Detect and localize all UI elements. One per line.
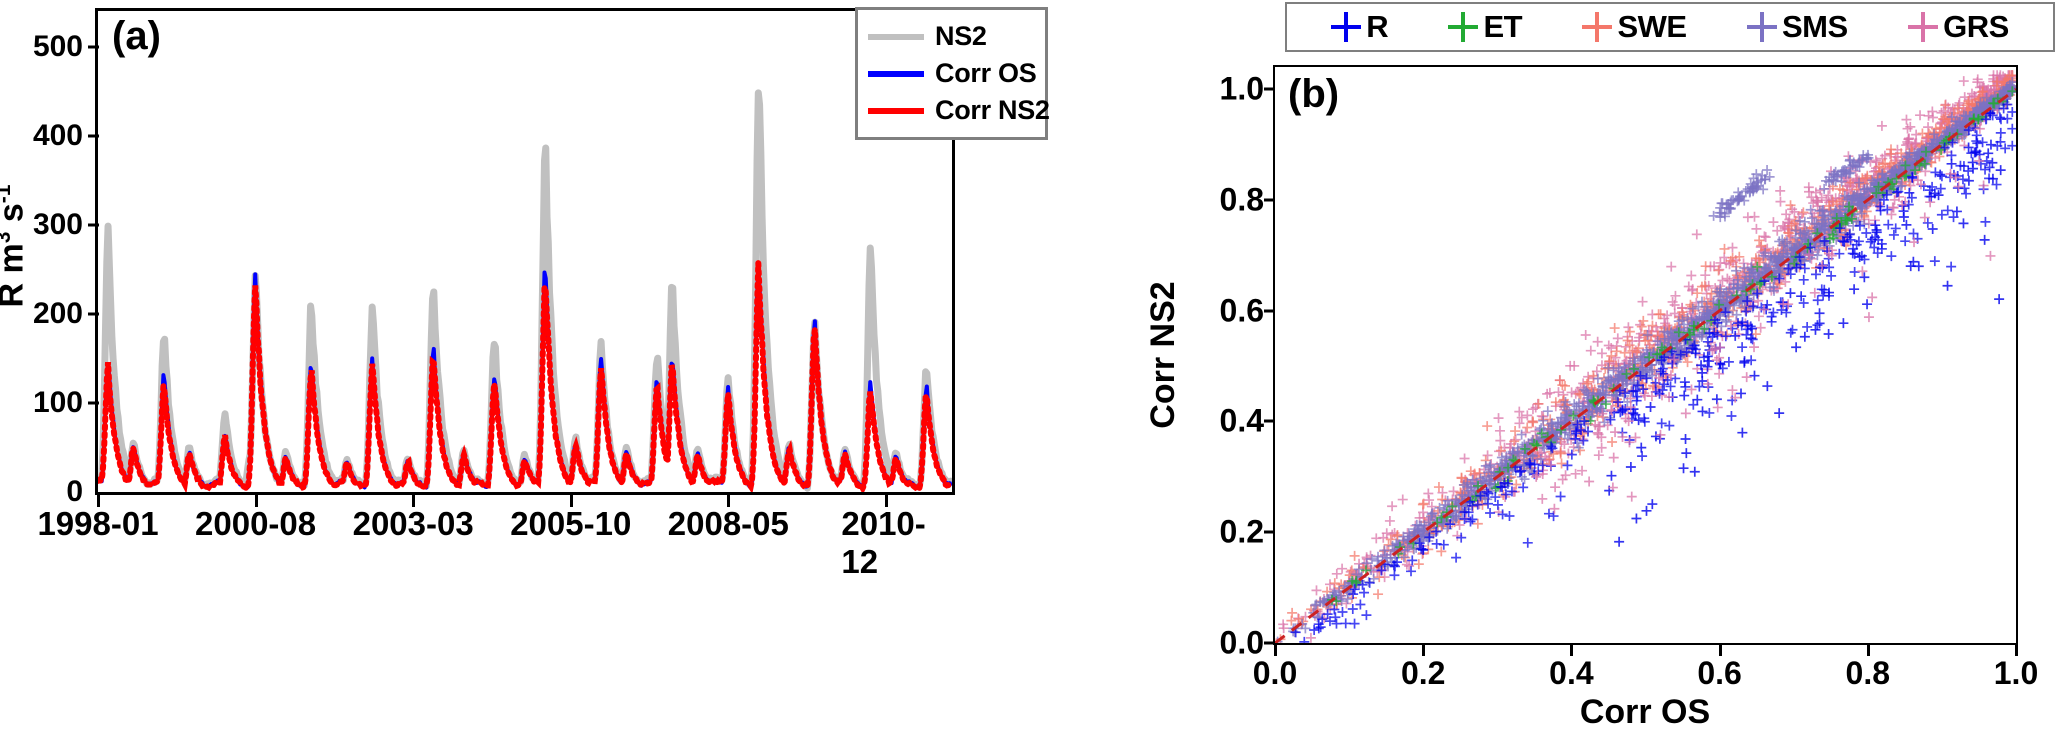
plus-marker-icon [1331, 12, 1361, 42]
panel-a-label: (a) [112, 14, 161, 59]
panel-a-x-tick-mark [727, 495, 730, 507]
panel-b-x-tick-mark [1422, 645, 1425, 656]
scatter-point [1928, 113, 1938, 123]
scatter-point [1537, 494, 1547, 504]
scatter-point [1350, 619, 1360, 629]
panel-a-legend: NS2Corr OSCorr NS2 [855, 7, 1048, 140]
scatter-point [1550, 482, 1560, 492]
scatter-point [2007, 124, 2016, 134]
scatter-point [1311, 585, 1321, 595]
panel-a-y-tick-mark [88, 45, 99, 48]
scatter-point [1849, 284, 1859, 294]
scatter-point [1418, 499, 1428, 509]
scatter-point [1775, 186, 1785, 196]
scatter-point [1517, 413, 1527, 423]
legend-label: SWE [1617, 9, 1686, 45]
panel-b-y-tick-label: 0.4 [1220, 403, 1264, 440]
panel-b-x-tick-mark [1719, 645, 1722, 656]
scatter-point [1762, 165, 1772, 175]
scatter-point [1886, 144, 1896, 154]
panel-b-x-tick-mark [1570, 645, 1573, 656]
scatter-point [1791, 342, 1801, 352]
scatter-point [1371, 533, 1381, 543]
scatter-point [1870, 220, 1880, 230]
scatter-point [1556, 492, 1566, 502]
panel-a-x-tick-mark [97, 495, 100, 507]
scatter-point [1631, 513, 1641, 523]
scatter-point [1543, 406, 1553, 416]
panel-a-x-tick-mark [255, 495, 258, 507]
panel-b-x-tick-label: 0.6 [1697, 655, 1741, 692]
panel-b-y-tick-mark [1264, 198, 1274, 201]
scatter-point [1714, 353, 1724, 363]
plus-marker-icon [1908, 12, 1938, 42]
panel-b-x-tick-label: 0.4 [1549, 655, 1593, 692]
panel-a-y-tick-label: 300 [33, 208, 83, 242]
panel-a-x-tick-mark [570, 495, 573, 507]
scatter-point [1994, 294, 2004, 304]
scatter-point [1523, 538, 1533, 548]
scatter-point [1646, 402, 1656, 412]
panel-b-y-tick-mark [1264, 531, 1274, 534]
scatter-point [1980, 217, 1990, 227]
scatter-point [1864, 312, 1874, 322]
scatter-point [1485, 508, 1495, 518]
scatter-point [1886, 251, 1896, 261]
legend-label: NS2 [935, 21, 987, 52]
scatter-point [1899, 212, 1909, 222]
panel-b-y-tick-label: 0.6 [1220, 292, 1264, 329]
scatter-point [1664, 421, 1674, 431]
scatter-point [1593, 337, 1603, 347]
scatter-point [1889, 203, 1899, 213]
scatter-point [1557, 458, 1567, 468]
scatter-point [1666, 262, 1676, 272]
panel-b-x-tick-label: 1.0 [1994, 655, 2038, 692]
legend-label: Corr OS [935, 58, 1036, 89]
scatter-point [1495, 426, 1505, 436]
scatter-point [1604, 340, 1614, 350]
scatter-point [1717, 275, 1727, 285]
scatter-point [1964, 176, 1974, 186]
scatter-point [1972, 138, 1982, 148]
scatter-point [1700, 270, 1710, 280]
scatter-point [1613, 333, 1623, 343]
scatter-point [1928, 224, 1938, 234]
scatter-point [1754, 311, 1764, 321]
scatter-point [1857, 266, 1867, 276]
scatter-point [1355, 600, 1365, 610]
panel-b-y-tick-label: 0.2 [1220, 514, 1264, 551]
panel-b-y-tick-mark [1264, 309, 1274, 312]
scatter-point [1494, 413, 1504, 423]
scatter-point [1597, 348, 1607, 358]
scatter-point [1704, 408, 1714, 418]
panel-b-y-tick-mark [1264, 88, 1274, 91]
scatter-point [1960, 183, 1970, 193]
scatter-point [1756, 323, 1766, 333]
scatter-point [1493, 500, 1503, 510]
scatter-point [1817, 261, 1827, 271]
scatter-point [1331, 619, 1341, 629]
panel-a-y-tick-label: 500 [33, 30, 83, 64]
legend-label: SMS [1782, 9, 1848, 45]
scatter-point [1679, 391, 1689, 401]
scatter-point [1726, 411, 1736, 421]
scatter-point [1930, 256, 1940, 266]
panel-a-y-tick-mark [88, 134, 99, 137]
panel-a-x-tick-label: 2000-08 [195, 505, 316, 543]
scatter-point [1607, 437, 1617, 447]
scatter-point [1978, 137, 1988, 147]
scatter-point [1385, 516, 1395, 526]
legend-item-sms: SMS [1747, 9, 1848, 45]
panel-b-y-tick-label: 0.8 [1220, 181, 1264, 218]
panel-b-plot-area [1273, 65, 2018, 645]
scatter-point [1690, 467, 1700, 477]
scatter-point [1867, 292, 1877, 302]
scatter-point [1722, 274, 1732, 284]
scatter-point [1719, 244, 1729, 254]
scatter-point [1762, 381, 1772, 391]
scatter-point [2000, 143, 2010, 153]
scatter-point [1746, 355, 1756, 365]
panel-b-x-tick-label: 0.0 [1253, 655, 1297, 692]
scatter-point [1968, 157, 1978, 167]
panel-b-y-tick-mark [1264, 420, 1274, 423]
scatter-point [1751, 224, 1761, 234]
scatter-point [1727, 243, 1737, 253]
scatter-point [1482, 421, 1492, 431]
scatter-point [1796, 291, 1806, 301]
scatter-point [1804, 182, 1814, 192]
legend-item-et: ET [1448, 9, 1522, 45]
panel-a-y-tick-mark [88, 312, 99, 315]
scatter-point [1361, 610, 1371, 620]
scatter-point [1739, 358, 1749, 368]
legend-item-swe: SWE [1582, 9, 1686, 45]
scatter-point [1373, 589, 1383, 599]
legend-item-corr-ns2: Corr NS2 [868, 94, 1037, 128]
scatter-point [1483, 450, 1493, 460]
scatter-point [1623, 322, 1633, 332]
plus-marker-icon [1582, 12, 1612, 42]
scatter-point [1609, 453, 1619, 463]
panel-b-label: (b) [1288, 72, 1339, 117]
scatter-point [1586, 346, 1596, 356]
scatter-point [1620, 348, 1630, 358]
scatter-point [1765, 172, 1775, 182]
scatter-point [1713, 402, 1723, 412]
scatter-point [1681, 434, 1691, 444]
scatter-point [1698, 406, 1708, 416]
scatter-point [1983, 148, 1993, 158]
scatter-point [2007, 141, 2016, 151]
panel-a-y-tick-label: 0 [66, 475, 83, 509]
scatter-point [1958, 218, 1968, 228]
scatter-point [1389, 570, 1399, 580]
scatter-point [1647, 499, 1657, 509]
scatter-point [1980, 235, 1990, 245]
scatter-point [1799, 275, 1809, 285]
panel-b-legend: RETSWESMSGRS [1285, 2, 2055, 52]
scatter-point [1824, 262, 1834, 272]
scatter-point [1722, 330, 1732, 340]
scatter-point [1947, 159, 1957, 169]
scatter-point [1946, 262, 1956, 272]
scatter-point [1750, 212, 1760, 222]
scatter-point [1350, 551, 1360, 561]
legend-item-corr-os: Corr OS [868, 57, 1037, 91]
panel-b-y-tick-label: 1.0 [1220, 71, 1264, 108]
scatter-point [1815, 308, 1825, 318]
scatter-point [1971, 136, 1981, 146]
scatter-point [1630, 432, 1640, 442]
scatter-point [1872, 227, 1882, 237]
scatter-point [1986, 140, 1996, 150]
panel-b-x-tick-label: 0.8 [1846, 655, 1890, 692]
scatter-point [1959, 76, 1969, 86]
scatter-point [1341, 618, 1351, 628]
panel-a-x-tick-label: 2005-10 [510, 505, 631, 543]
panel-a-timeseries-svg [98, 11, 952, 492]
scatter-point [1749, 371, 1759, 381]
scatter-point [1768, 217, 1778, 227]
scatter-point [1996, 128, 2006, 138]
scatter-point [1692, 229, 1702, 239]
panel-a-y-tick-mark [88, 223, 99, 226]
scatter-point [1985, 251, 1995, 261]
panel-b: Corr NS2 Corr OS (b) 0.00.20.40.60.81.0 … [1130, 0, 2067, 733]
scatter-point [1954, 182, 1964, 192]
scatter-point [1581, 330, 1591, 340]
panel-a-plot-area [95, 8, 955, 495]
scatter-point [1387, 501, 1397, 511]
scatter-point [1862, 299, 1872, 309]
panel-b-x-tick-mark [1274, 645, 1277, 656]
legend-label: Corr NS2 [935, 95, 1050, 126]
legend-label: R [1366, 9, 1388, 45]
scatter-point [1679, 463, 1689, 473]
legend-color-swatch [868, 34, 924, 40]
legend-item-ns2: NS2 [868, 20, 1037, 54]
scatter-point [1936, 184, 1946, 194]
scatter-point [1500, 492, 1510, 502]
scatter-point [1889, 230, 1899, 240]
scatter-point [1626, 462, 1636, 472]
panel-a-y-tick-mark [88, 401, 99, 404]
scatter-point [1451, 553, 1461, 563]
scatter-point [1774, 408, 1784, 418]
panel-a-x-tick-mark [412, 495, 415, 507]
scatter-point [1742, 372, 1752, 382]
scatter-point [1703, 362, 1713, 372]
scatter-point [1686, 270, 1696, 280]
scatter-point [1614, 537, 1624, 547]
scatter-point [1935, 170, 1945, 180]
scatter-point [1636, 443, 1646, 453]
scatter-point [1908, 257, 1918, 267]
plus-marker-icon [1747, 12, 1777, 42]
panel-a-y-tick-label: 200 [33, 297, 83, 331]
scatter-point [1737, 342, 1747, 352]
panel-a-y-tick-label: 100 [33, 386, 83, 420]
scatter-point [1680, 377, 1690, 387]
scatter-point [1859, 272, 1869, 282]
panel-a-y-axis-label: R m3 s-1 [0, 185, 31, 308]
scatter-point [1549, 504, 1559, 514]
scatter-point [1824, 329, 1834, 339]
scatter-point [1961, 189, 1971, 199]
panel-b-y-tick-mark [1264, 642, 1274, 645]
scatter-point [1785, 288, 1795, 298]
scatter-point [1436, 546, 1446, 556]
panel-a-x-tick-label: 1998-01 [37, 505, 158, 543]
scatter-point [1901, 220, 1911, 230]
scatter-point [1681, 408, 1691, 418]
scatter-point [1625, 327, 1635, 337]
scatter-point [1657, 418, 1667, 428]
scatter-point [1610, 323, 1620, 333]
panel-a-x-tick-label: 2003-03 [353, 505, 474, 543]
panel-b-x-tick-label: 0.2 [1401, 655, 1445, 692]
scatter-point [1584, 476, 1594, 486]
scatter-point [1624, 437, 1634, 447]
panel-b-scatter-svg [1275, 67, 2016, 643]
legend-label: GRS [1943, 9, 2009, 45]
scatter-point [1943, 281, 1953, 291]
scatter-point [1996, 165, 2006, 175]
panel-a-x-tick-mark [885, 495, 888, 507]
scatter-point [1861, 228, 1871, 238]
panel-a-x-tick-label: 2008-05 [668, 505, 789, 543]
scatter-point [1555, 375, 1565, 385]
scatter-point [1925, 197, 1935, 207]
scatter-point [1701, 261, 1711, 271]
scatter-point [1460, 454, 1470, 464]
legend-item-r: R [1331, 9, 1388, 45]
figure-root: R m3 s-1 (a) 0100200300400500 1998-01200… [0, 0, 2067, 733]
legend-color-swatch [868, 71, 924, 77]
scatter-point [1332, 569, 1342, 579]
scatter-point [1544, 509, 1554, 519]
scatter-point [1900, 236, 1910, 246]
scatter-point [1737, 428, 1747, 438]
legend-color-swatch [868, 108, 924, 114]
scatter-point [1638, 297, 1648, 307]
scatter-point [1799, 298, 1809, 308]
panel-b-x-tick-mark [2015, 645, 2018, 656]
scatter-point [1641, 506, 1651, 516]
scatter-point [1995, 112, 2005, 122]
scatter-point [1606, 471, 1616, 481]
scatter-point [1504, 511, 1514, 521]
panel-b-x-tick-mark [1867, 645, 1870, 656]
scatter-point [1562, 460, 1572, 470]
scatter-point [1914, 261, 1924, 271]
panel-b-x-axis-label: Corr OS [1580, 693, 1710, 732]
scatter-point [1560, 381, 1570, 391]
scatter-point [1637, 451, 1647, 461]
scatter-point [1915, 110, 1925, 120]
scatter-point [1826, 271, 1836, 281]
scatter-point [1337, 564, 1347, 574]
panel-a: R m3 s-1 (a) 0100200300400500 1998-01200… [0, 0, 975, 733]
scatter-point [1359, 588, 1369, 598]
scatter-point [1398, 495, 1408, 505]
scatter-point [1775, 197, 1785, 207]
scatter-point [1610, 427, 1620, 437]
scatter-point [1681, 448, 1691, 458]
scatter-point [1348, 604, 1358, 614]
scatter-point [1877, 121, 1887, 131]
scatter-point [1800, 332, 1810, 342]
scatter-point [1923, 122, 1933, 132]
legend-item-grs: GRS [1908, 9, 2009, 45]
scatter-point [1423, 489, 1433, 499]
scatter-point [1528, 416, 1538, 426]
panel-a-y-tick-label: 400 [33, 119, 83, 153]
panel-a-x-tick-label: 2010-12 [841, 505, 930, 581]
plus-marker-icon [1448, 12, 1478, 42]
panel-b-y-axis-label: Corr NS2 [1144, 281, 1183, 428]
scatter-point [1627, 492, 1637, 502]
scatter-point [1812, 320, 1822, 330]
legend-label: ET [1483, 9, 1522, 45]
scatter-point [1838, 318, 1848, 328]
scatter-point [1749, 342, 1759, 352]
